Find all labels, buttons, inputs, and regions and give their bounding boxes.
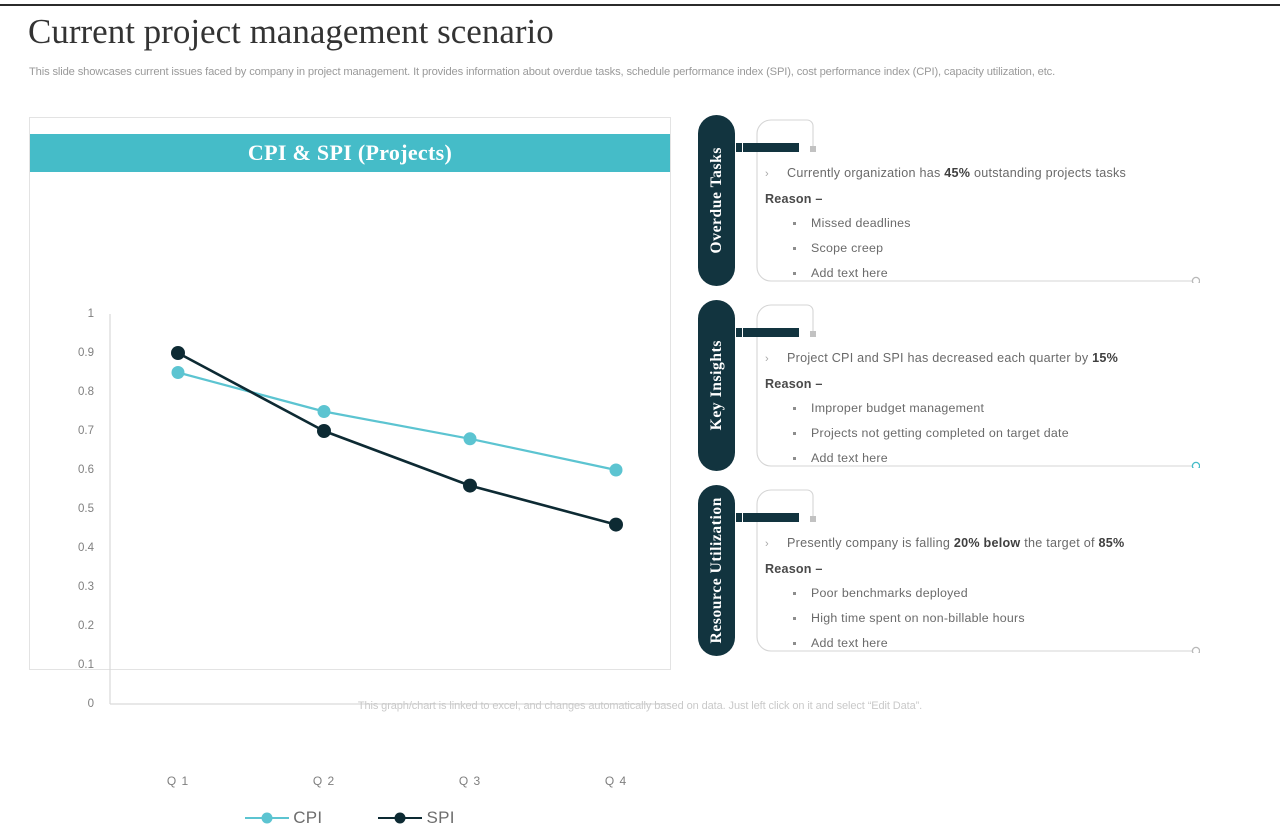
legend-line-cpi [245, 817, 289, 820]
card-pill-key-insights: Key Insights [698, 300, 735, 471]
data-point-spi [171, 346, 185, 360]
card-content: ›Project CPI and SPI has decreased each … [765, 351, 1190, 476]
legend-dot-spi [395, 813, 406, 824]
insight-card[interactable]: Key Insights›Project CPI and SPI has dec… [698, 295, 1210, 473]
card-reason-label: Reason – [765, 192, 1190, 206]
card-end-dot [1192, 277, 1199, 283]
x-tick-label: Q 3 [459, 774, 481, 788]
chart-axes [110, 314, 670, 704]
card-accent-bar [743, 328, 799, 337]
insight-card[interactable]: Overdue Tasks›Currently organization has… [698, 110, 1210, 288]
x-tick-label: Q 2 [313, 774, 335, 788]
card-bullet-list: Missed deadlinesScope creepAdd text here [789, 216, 1190, 280]
legend-label-cpi: CPI [293, 808, 322, 828]
card-reason-label: Reason – [765, 562, 1190, 576]
card-end-dot [1192, 647, 1199, 653]
data-point-cpi [318, 405, 331, 418]
list-item: High time spent on non-billable hours [789, 611, 1190, 625]
x-tick-label: Q 1 [167, 774, 189, 788]
x-axis-tick-labels: Q 1Q 2Q 3Q 4 [110, 774, 686, 794]
chart-header-bar: CPI & SPI (Projects) [30, 134, 670, 172]
card-bullet-list: Improper budget managementProjects not g… [789, 401, 1190, 465]
card-connector-dot [810, 146, 816, 152]
data-point-spi [463, 479, 477, 493]
x-tick-label: Q 4 [605, 774, 627, 788]
card-accent-tick [736, 143, 742, 152]
card-headline-text: Project CPI and SPI has decreased each q… [787, 351, 1118, 365]
card-pill-label: Overdue Tasks [708, 147, 726, 253]
card-pill-overdue-tasks: Overdue Tasks [698, 115, 735, 286]
list-item: Add text here [789, 636, 1190, 650]
insight-cards: Overdue Tasks›Currently organization has… [698, 110, 1258, 665]
chart-title: CPI & SPI (Projects) [248, 140, 452, 166]
list-item: Add text here [789, 451, 1190, 465]
page-subtitle: This slide showcases current issues face… [29, 66, 1055, 78]
legend-item-cpi: CPI [245, 808, 322, 828]
card-pill-label: Resource Utilization [708, 497, 726, 643]
legend-item-spi: SPI [378, 808, 454, 828]
card-connector-dot [810, 516, 816, 522]
card-connector-dot [810, 331, 816, 337]
card-headline-text: Currently organization has 45% outstandi… [787, 166, 1126, 180]
series-line-spi [178, 353, 616, 525]
card-content: ›Presently company is falling 20% below … [765, 536, 1190, 661]
list-item: Missed deadlines [789, 216, 1190, 230]
data-point-cpi [464, 432, 477, 445]
list-item: Improper budget management [789, 401, 1190, 415]
card-accent-bar [743, 513, 799, 522]
card-headline: ›Project CPI and SPI has decreased each … [765, 351, 1190, 365]
card-bullet-list: Poor benchmarks deployedHigh time spent … [789, 586, 1190, 650]
list-item: Poor benchmarks deployed [789, 586, 1190, 600]
data-point-spi [609, 518, 623, 532]
data-point-spi [317, 424, 331, 438]
card-pill-label: Key Insights [708, 340, 726, 430]
legend-label-spi: SPI [426, 808, 454, 828]
card-body: ›Project CPI and SPI has decreased each … [755, 303, 1200, 468]
data-point-cpi [172, 366, 185, 379]
card-end-dot [1192, 462, 1199, 468]
chart-series [171, 346, 623, 532]
data-point-cpi [610, 464, 623, 477]
card-accent-tick [736, 513, 742, 522]
card-body: ›Presently company is falling 20% below … [755, 488, 1200, 653]
legend-dot-cpi [262, 813, 273, 824]
card-reason-label: Reason – [765, 377, 1190, 391]
list-item: Scope creep [789, 241, 1190, 255]
line-chart-svg [30, 178, 670, 738]
chevron-right-icon: › [765, 168, 787, 180]
chart-legend: CPI SPI [30, 808, 670, 828]
chevron-right-icon: › [765, 353, 787, 365]
insight-card[interactable]: Resource Utilization›Presently company i… [698, 480, 1210, 658]
card-body: ›Currently organization has 45% outstand… [755, 118, 1200, 283]
top-rule [0, 4, 1280, 6]
card-headline: ›Presently company is falling 20% below … [765, 536, 1190, 550]
page-title: Current project management scenario [28, 12, 554, 52]
card-headline-text: Presently company is falling 20% below t… [787, 536, 1124, 550]
card-accent-tick [736, 328, 742, 337]
list-item: Projects not getting completed on target… [789, 426, 1190, 440]
chevron-right-icon: › [765, 538, 787, 550]
legend-line-spi [378, 817, 422, 820]
card-accent-bar [743, 143, 799, 152]
card-headline: ›Currently organization has 45% outstand… [765, 166, 1190, 180]
chart-panel: CPI & SPI (Projects) 10.90.80.70.60.50.4… [29, 117, 671, 670]
chart-plot-area: 10.90.80.70.60.50.40.30.20.10 Q 1Q 2Q 3Q… [30, 178, 670, 738]
list-item: Add text here [789, 266, 1190, 280]
card-pill-resource-utilization: Resource Utilization [698, 485, 735, 656]
footer-note: This graph/chart is linked to excel, and… [0, 700, 1280, 712]
card-content: ›Currently organization has 45% outstand… [765, 166, 1190, 291]
